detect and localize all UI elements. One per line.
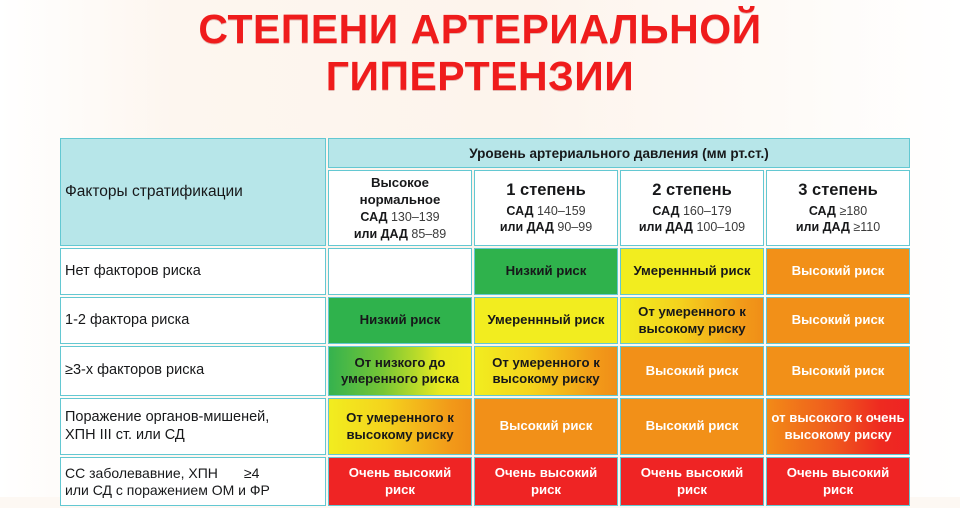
dbp-value: ≥110	[853, 220, 880, 234]
row-label-line-2: ХПН III ст. или СД	[65, 427, 321, 444]
table-row: ≥3-х факторов риска От низкого до умерен…	[60, 346, 910, 396]
risk-cell-r2c4: Высокий риск	[766, 297, 910, 344]
row-label-line-1: СС заболевавние, ХПН≥4	[65, 465, 321, 482]
sbp-label: САД	[360, 210, 387, 224]
risk-cell-r1c2: Низкий риск	[474, 248, 618, 295]
dbp-label: или ДАД	[500, 220, 554, 234]
header-sbp-degree-3: САД ≥180	[771, 203, 905, 220]
header-sbp-high-normal: САД 130–139	[333, 209, 467, 226]
row-label-line-1: Поражение органов-мишеней,	[65, 409, 321, 426]
risk-cell-r5c3: Очень высокий риск	[620, 457, 764, 506]
header-dbp-degree-1: или ДАД 90–99	[479, 219, 613, 236]
poster-page: СТЕПЕНИ АРТЕРИАЛЬНОЙ ГИПЕРТЕНЗИИ Факторы…	[0, 0, 960, 497]
dbp-value: 100–109	[696, 220, 745, 234]
risk-stratification-table: Факторы стратификации Уровень артериальн…	[58, 136, 912, 508]
header-column-high-normal: Высокое нормальное САД 130–139 или ДАД 8…	[328, 170, 472, 246]
row-label-line-1-text: СС заболевавние, ХПН	[65, 465, 218, 481]
row-label-line-2: или СД с поражением ОМ и ФР	[65, 482, 321, 499]
risk-cell-r4c3: Высокий риск	[620, 398, 764, 455]
table-row: Поражение органов-мишеней, ХПН III ст. и…	[60, 398, 910, 455]
risk-cell-r5c2: Очень высокий риск	[474, 457, 618, 506]
risk-cell-r3c4: Высокий риск	[766, 346, 910, 396]
header-stratification-factors: Факторы стратификации	[60, 138, 326, 246]
header-title-degree-2: 2 степень	[625, 180, 759, 202]
risk-cell-r4c4: от высокого к очень высокому риску	[766, 398, 910, 455]
risk-cell-r1c3: Умереннный риск	[620, 248, 764, 295]
risk-cell-r5c1: Очень высокий риск	[328, 457, 472, 506]
header-dbp-high-normal: или ДАД 85–89	[333, 226, 467, 243]
table-row: СС заболевавние, ХПН≥4 или СД с поражени…	[60, 457, 910, 506]
row-label-one-two-risk-factors: 1-2 фактора риска	[60, 297, 326, 344]
header-column-degree-1: 1 степень САД 140–159 или ДАД 90–99	[474, 170, 618, 246]
risk-cell-r2c3: От умеренного к высокому риску	[620, 297, 764, 344]
sbp-label: САД	[652, 204, 679, 218]
title-line-1: СТЕПЕНИ АРТЕРИАЛЬНОЙ	[40, 6, 920, 53]
dbp-label: или ДАД	[354, 227, 408, 241]
sbp-label: САД	[506, 204, 533, 218]
risk-cell-r2c1: Низкий риск	[328, 297, 472, 344]
sbp-value: 130–139	[391, 210, 440, 224]
risk-cell-r4c1: От умеренного к высокому риску	[328, 398, 472, 455]
row-label-no-risk-factors: Нет факторов риска	[60, 248, 326, 295]
table-header-row: Факторы стратификации Уровень артериальн…	[60, 138, 910, 168]
risk-cell-r4c2: Высокий риск	[474, 398, 618, 455]
header-bp-level-banner: Уровень артериального давления (мм рт.ст…	[328, 138, 910, 168]
risk-cell-r5c4: Очень высокий риск	[766, 457, 910, 506]
risk-cell-r1c4: Высокий риск	[766, 248, 910, 295]
header-title-high-normal: Высокое нормальное	[333, 174, 467, 209]
risk-cell-r3c3: Высокий риск	[620, 346, 764, 396]
header-sbp-degree-2: САД 160–179	[625, 203, 759, 220]
title-line-2: ГИПЕРТЕНЗИИ	[40, 53, 920, 100]
header-sbp-degree-1: САД 140–159	[479, 203, 613, 220]
dbp-value: 85–89	[411, 227, 446, 241]
risk-cell-r3c1: От низкого до умеренного риска	[328, 346, 472, 396]
risk-cell-r2c2: Умереннный риск	[474, 297, 618, 344]
sbp-label: САД	[809, 204, 836, 218]
sbp-value: 140–159	[537, 204, 586, 218]
sbp-value: 160–179	[683, 204, 732, 218]
table-row: Нет факторов риска Низкий риск Умереннны…	[60, 248, 910, 295]
header-title-degree-3: 3 степень	[771, 180, 905, 202]
header-dbp-degree-2: или ДАД 100–109	[625, 219, 759, 236]
header-column-degree-2: 2 степень САД 160–179 или ДАД 100–109	[620, 170, 764, 246]
dbp-label: или ДАД	[639, 220, 693, 234]
row-label-cardiovascular-disease: СС заболевавние, ХПН≥4 или СД с поражени…	[60, 457, 326, 506]
header-title-degree-1: 1 степень	[479, 180, 613, 202]
table-row: 1-2 фактора риска Низкий риск Умереннный…	[60, 297, 910, 344]
dbp-value: 90–99	[557, 220, 592, 234]
row-label-target-organ-damage: Поражение органов-мишеней, ХПН III ст. и…	[60, 398, 326, 455]
header-column-degree-3: 3 степень САД ≥180 или ДАД ≥110	[766, 170, 910, 246]
row-label-threshold: ≥4	[244, 465, 259, 481]
dbp-label: или ДАД	[796, 220, 850, 234]
risk-cell-r3c2: От умеренного к высокому риску	[474, 346, 618, 396]
sbp-value: ≥180	[839, 204, 867, 218]
risk-cell-r1c1	[328, 248, 472, 295]
header-dbp-degree-3: или ДАД ≥110	[771, 219, 905, 236]
row-label-three-or-more-risk-factors: ≥3-х факторов риска	[60, 346, 326, 396]
page-title: СТЕПЕНИ АРТЕРИАЛЬНОЙ ГИПЕРТЕНЗИИ	[0, 6, 960, 100]
